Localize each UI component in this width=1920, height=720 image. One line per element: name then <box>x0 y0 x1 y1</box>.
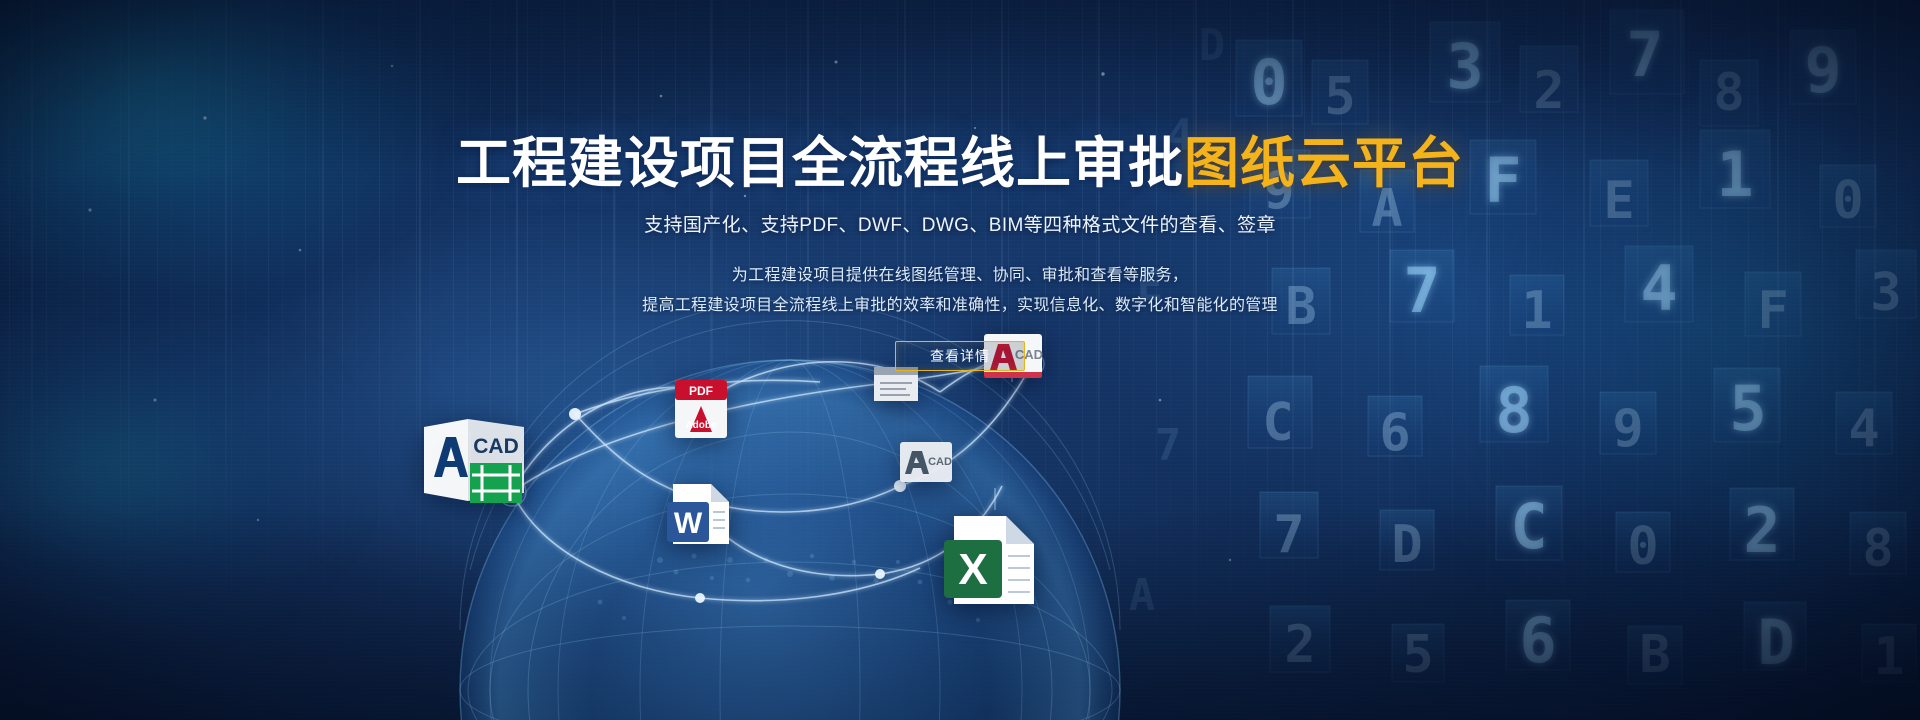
description-line-1: 为工程建设项目提供在线图纸管理、协同、审批和查看等服务， <box>0 261 1920 291</box>
svg-text:A: A <box>1129 570 1156 621</box>
page-title: 工程建设项目全流程线上审批图纸云平台 <box>0 132 1920 194</box>
excel-icon: X <box>940 510 1044 615</box>
svg-text:0: 0 <box>1627 517 1658 577</box>
svg-text:7: 7 <box>1273 505 1304 565</box>
hero-content: 工程建设项目全流程线上审批图纸云平台 支持国产化、支持PDF、DWF、DWG、B… <box>0 0 1920 371</box>
pdf-icon: PDF Adobe <box>672 378 730 445</box>
svg-text:D: D <box>1757 606 1794 679</box>
page-title-accent: 图纸云平台 <box>1184 132 1464 194</box>
dwg-document-icon <box>872 365 920 414</box>
svg-text:C: C <box>1510 490 1547 563</box>
view-details-button[interactable]: 查看详情 <box>895 341 1025 371</box>
svg-text:PDF: PDF <box>689 384 713 398</box>
word-icon: W <box>665 478 737 555</box>
svg-text:5: 5 <box>1402 625 1433 685</box>
autocad-icon: CAD <box>420 415 530 515</box>
svg-text:CAD: CAD <box>473 435 519 458</box>
svg-text:6: 6 <box>1379 403 1410 463</box>
page-subtitle: 支持国产化、支持PDF、DWF、DWG、BIM等四种格式文件的查看、签章 <box>0 213 1920 239</box>
svg-text:4: 4 <box>1848 399 1879 459</box>
page-title-main: 工程建设项目全流程线上审批 <box>456 132 1184 194</box>
page-description: 为工程建设项目提供在线图纸管理、协同、审批和查看等服务， 提高工程建设项目全流程… <box>0 261 1920 321</box>
svg-text:CAD: CAD <box>928 456 952 468</box>
svg-text:W: W <box>674 507 703 540</box>
svg-text:8: 8 <box>1495 374 1532 447</box>
svg-text:6: 6 <box>1519 604 1556 677</box>
svg-text:7: 7 <box>1155 420 1182 471</box>
svg-text:2: 2 <box>1284 615 1315 675</box>
svg-text:X: X <box>958 545 987 594</box>
svg-text:8: 8 <box>1862 519 1893 579</box>
svg-text:5: 5 <box>1729 372 1766 445</box>
svg-text:Adobe: Adobe <box>685 420 717 431</box>
dwg-icon: CAD <box>898 440 954 491</box>
svg-text:1: 1 <box>1873 627 1904 687</box>
description-line-2: 提高工程建设项目全流程线上审批的效率和准确性，实现信息化、数字化和智能化的管理 <box>0 291 1920 321</box>
svg-text:9: 9 <box>1612 399 1643 459</box>
svg-text:2: 2 <box>1743 494 1780 567</box>
cta-wrapper: 查看详情 <box>0 341 1920 371</box>
svg-text:B: B <box>1639 625 1670 685</box>
svg-text:D: D <box>1391 515 1422 575</box>
svg-text:C: C <box>1262 393 1293 453</box>
hero-banner: 0 3 7 9 F 1 7 4 8 5 C 2 6 D 5 2 <box>0 0 1920 720</box>
